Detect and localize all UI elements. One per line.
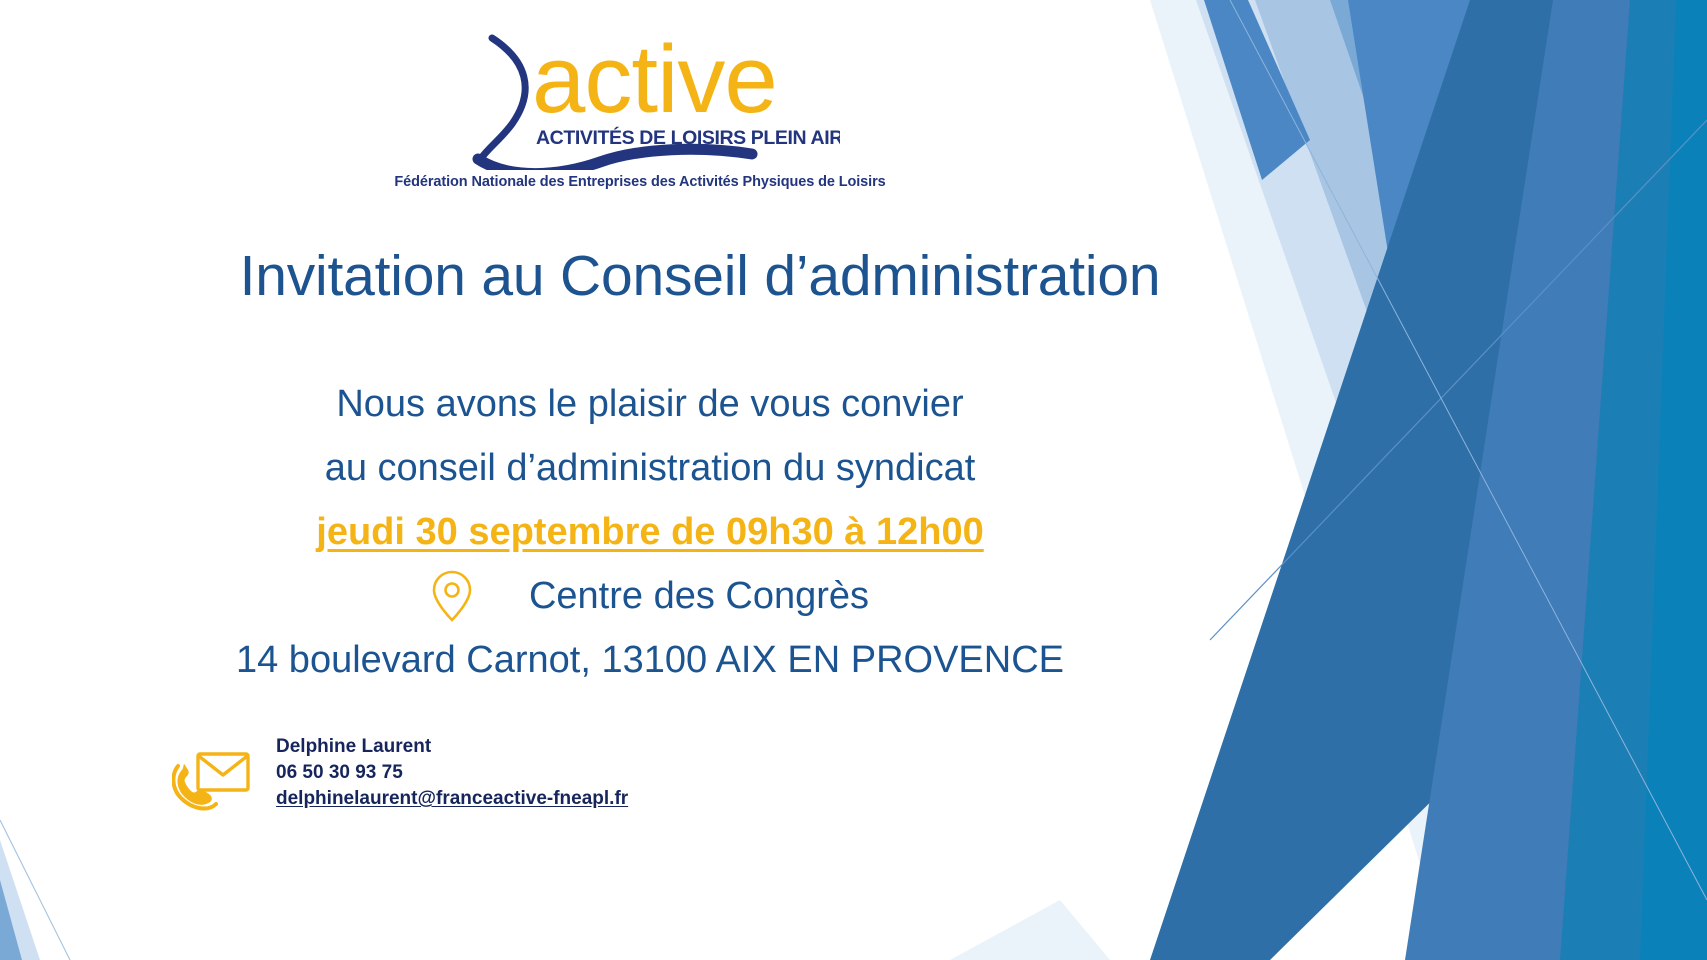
- contact-name: Delphine Laurent: [276, 734, 628, 760]
- invitation-body: Nous avons le plaisir de vous convier au…: [0, 372, 1300, 692]
- contact-phone[interactable]: 06 50 30 93 75: [276, 760, 628, 786]
- contact-block: Delphine Laurent 06 50 30 93 75 delphine…: [172, 732, 628, 814]
- page-title: Invitation au Conseil d’administration: [0, 243, 1400, 309]
- logo-tagline: ACTIVITÉS DE LOISIRS PLEIN AIR & INDOOR: [536, 126, 840, 149]
- venue-address: 14 boulevard Carnot, 13100 AIX EN PROVEN…: [0, 628, 1300, 692]
- invitation-line-2: au conseil d’administration du syndicat: [0, 436, 1300, 500]
- venue-name: Centre des Congrès: [529, 564, 869, 628]
- svg-text:active: active: [532, 26, 777, 133]
- envelope-phone-icon: [172, 740, 254, 814]
- logo-block: active ACTIVITÉS DE LOISIRS PLEIN AIR & …: [0, 20, 1280, 190]
- location-pin-icon: [431, 569, 473, 623]
- federation-line: Fédération Nationale des Entreprises des…: [0, 174, 1280, 190]
- contact-email[interactable]: delphinelaurent@franceactive-fneapl.fr: [276, 786, 628, 812]
- event-date: jeudi 30 septembre de 09h30 à 12h00: [0, 500, 1300, 564]
- active-logo: active ACTIVITÉS DE LOISIRS PLEIN AIR & …: [440, 20, 840, 170]
- invitation-slide: active ACTIVITÉS DE LOISIRS PLEIN AIR & …: [0, 0, 1707, 960]
- venue-row: Centre des Congrès: [0, 564, 1300, 628]
- invitation-line-1: Nous avons le plaisir de vous convier: [0, 372, 1300, 436]
- contact-details: Delphine Laurent 06 50 30 93 75 delphine…: [276, 732, 628, 812]
